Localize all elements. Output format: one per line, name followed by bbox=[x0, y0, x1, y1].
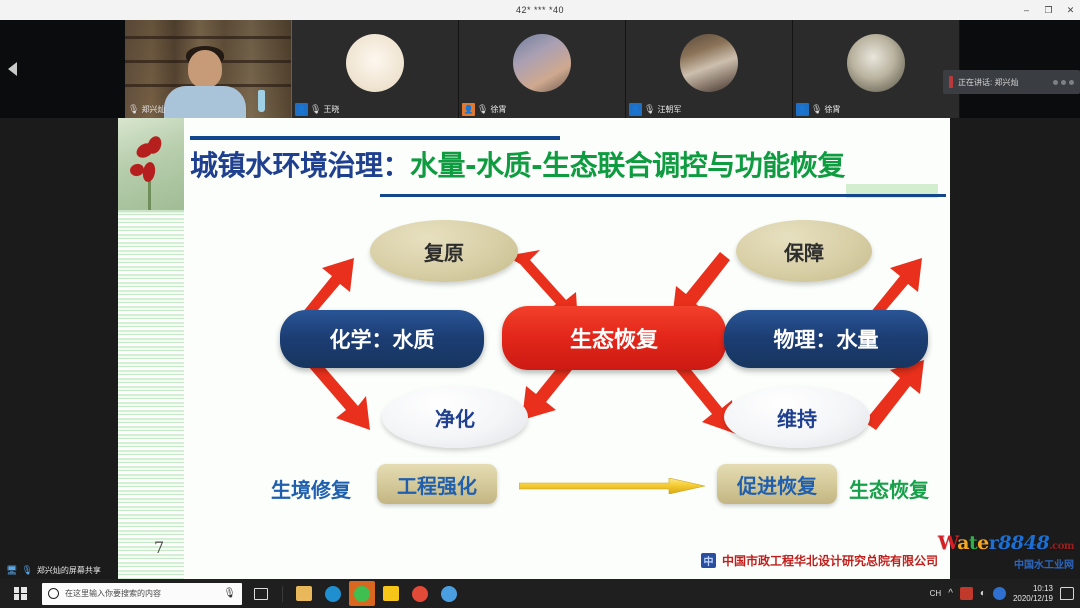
participant-filmstrip: 🎙 郑兴灿 👤 🎙 王晓 👤 🎙 徐霄 bbox=[0, 20, 1080, 118]
window-title-bar: 42* *** *40 – ❐ ✕ bbox=[0, 0, 1080, 20]
window-title: 42* *** *40 bbox=[516, 5, 564, 15]
microphone-icon: 🎙 bbox=[477, 104, 488, 115]
participant-name-text: 徐霄 bbox=[824, 104, 840, 115]
slide-footer-org: 中 中国市政工程华北设计研究总院有限公司 bbox=[701, 552, 938, 569]
user-badge-icon: 👤 bbox=[462, 103, 475, 116]
windows-taskbar: 在这里输入你要搜索的内容 🎙 bbox=[0, 579, 1080, 608]
title-rule-top bbox=[190, 136, 560, 140]
org-name-text: 中国市政工程华北设计研究总院有限公司 bbox=[722, 552, 938, 569]
avatar bbox=[847, 34, 905, 92]
participant-tile-active[interactable]: 🎙 郑兴灿 bbox=[125, 20, 292, 118]
node-fuyuan[interactable]: 复原 bbox=[370, 220, 518, 282]
search-placeholder-text: 在这里输入你要搜索的内容 bbox=[65, 588, 161, 599]
yellow-progress-arrow-icon bbox=[519, 478, 705, 494]
system-tray: CH ^ ◐ 10:13 2020/12/19 bbox=[930, 584, 1080, 602]
taskbar-clock[interactable]: 10:13 2020/12/19 bbox=[1013, 584, 1053, 602]
taskbar-app-buttons bbox=[248, 581, 462, 606]
active-speaker-panel[interactable]: 正在讲话: 郑兴灿 bbox=[943, 70, 1080, 94]
ime-indicator[interactable]: CH bbox=[930, 589, 942, 598]
person-body bbox=[164, 86, 246, 118]
node-weichi[interactable]: 维持 bbox=[724, 386, 870, 448]
volume-icon[interactable] bbox=[993, 587, 1006, 600]
wechat-icon bbox=[354, 586, 370, 602]
microphone-icon: 🎙 bbox=[644, 104, 655, 115]
user-badge-icon: 👤 bbox=[295, 103, 308, 116]
avatar bbox=[346, 34, 404, 92]
watermark-number: 8848 bbox=[998, 532, 1049, 554]
minimize-button[interactable]: – bbox=[1021, 6, 1032, 15]
participant-name-text: 汪朝军 bbox=[657, 104, 681, 115]
tray-app-icon[interactable] bbox=[960, 587, 973, 600]
close-button[interactable]: ✕ bbox=[1065, 6, 1076, 15]
watermark-a: a bbox=[957, 532, 969, 554]
node-huaxue-shuizhi[interactable]: 化学：水质 bbox=[280, 310, 484, 368]
participant-tile[interactable]: 👤 🎙 汪朝军 bbox=[626, 20, 793, 118]
microphone-icon: 🎙 bbox=[310, 104, 321, 115]
taskbar-app-meeting[interactable] bbox=[436, 581, 462, 606]
user-badge-icon: 👤 bbox=[796, 103, 809, 116]
node-shengtai-huifu[interactable]: 生态恢复 bbox=[502, 306, 726, 370]
bottle-decor bbox=[258, 90, 265, 112]
participant-name-label: 🎙 郑兴灿 bbox=[128, 102, 165, 116]
participant-name-label: 👤 🎙 汪朝军 bbox=[629, 102, 681, 116]
node-wuli-shuiliang[interactable]: 物理：水量 bbox=[724, 310, 928, 368]
participant-tile[interactable]: 👤 🎙 徐霄 bbox=[459, 20, 626, 118]
avatar bbox=[680, 34, 738, 92]
slide-title-secondary: 水量-水质-生态联合调控与功能恢复 bbox=[410, 149, 845, 182]
participant-name-text: 徐霄 bbox=[490, 104, 506, 115]
title-rule-bottom bbox=[380, 194, 946, 197]
node-jinghua[interactable]: 净化 bbox=[382, 386, 528, 448]
user-badge-icon: 👤 bbox=[629, 103, 642, 116]
node-baozhang[interactable]: 保障 bbox=[736, 220, 872, 282]
task-view-icon bbox=[254, 588, 268, 600]
speaking-level-icon bbox=[949, 76, 953, 88]
participant-name-text: 王晓 bbox=[323, 104, 339, 115]
watermark-domain: .com bbox=[1049, 541, 1074, 552]
watermark-r: r bbox=[989, 532, 999, 554]
taskbar-app-chrome[interactable] bbox=[407, 581, 433, 606]
taskbar-search-box[interactable]: 在这里输入你要搜索的内容 🎙 bbox=[42, 583, 242, 605]
monitor-icon: 🖥 bbox=[6, 565, 17, 576]
participant-tiles: 🎙 郑兴灿 👤 🎙 王晓 👤 🎙 徐霄 bbox=[125, 20, 960, 118]
microphone-icon: 🎙 bbox=[811, 104, 822, 115]
participant-name-label: 👤 🎙 徐霄 bbox=[796, 102, 840, 116]
edge-browser-icon bbox=[325, 586, 341, 602]
chrome-browser-icon bbox=[412, 586, 428, 602]
clock-date: 2020/12/19 bbox=[1013, 594, 1053, 603]
watermark-subtitle: 中国水工业网 bbox=[1014, 556, 1074, 571]
diagram-bottom-row: 生境修复 工程强化 促进恢复 生 bbox=[184, 456, 950, 514]
screen-share-text: 郑兴灿的屏幕共享 bbox=[37, 565, 101, 576]
presentation-slide: 城镇水环境治理：水量-水质-生态联合调控与功能恢复 bbox=[118, 118, 950, 579]
chip-cujin-huifu[interactable]: 促进恢复 bbox=[717, 464, 837, 504]
search-icon bbox=[48, 588, 59, 599]
clock-time: 10:13 bbox=[1033, 584, 1053, 593]
watermark-w: W bbox=[938, 532, 957, 554]
slide-title-primary: 城镇水环境治理： bbox=[190, 149, 410, 182]
notification-center-icon[interactable] bbox=[1060, 587, 1074, 600]
label-shengjing-xiufu: 生境修复 bbox=[271, 474, 351, 503]
flower-decoration-image bbox=[118, 118, 184, 213]
watermark-t: t bbox=[969, 532, 977, 554]
avatar bbox=[513, 34, 571, 92]
microphone-icon: 🎙 bbox=[21, 565, 32, 576]
network-icon[interactable]: ◐ bbox=[980, 588, 986, 599]
taskbar-app-notes[interactable] bbox=[378, 581, 404, 606]
green-stripe-sidebar bbox=[118, 210, 184, 579]
cortana-mic-icon[interactable]: 🎙 bbox=[223, 588, 236, 599]
participant-tile[interactable]: 👤 🎙 王晓 bbox=[292, 20, 459, 118]
watermark-e: e bbox=[977, 532, 989, 554]
taskbar-app-wechat[interactable] bbox=[349, 581, 375, 606]
maximize-button[interactable]: ❐ bbox=[1043, 6, 1054, 15]
slide-page-number: 7 bbox=[154, 538, 164, 557]
participant-tile[interactable]: 👤 🎙 徐霄 bbox=[793, 20, 960, 118]
cycle-diagram: 复原 保障 化学：水质 生态恢复 物理：水量 净化 维持 bbox=[184, 214, 950, 579]
participant-name-text: 郑兴灿 bbox=[141, 104, 165, 115]
taskbar-app-file-explorer[interactable] bbox=[291, 581, 317, 606]
tray-chevron-up-icon[interactable]: ^ bbox=[948, 588, 953, 599]
org-logo-icon: 中 bbox=[701, 553, 716, 568]
active-speaker-text: 正在讲话: 郑兴灿 bbox=[958, 77, 1018, 88]
microphone-icon: 🎙 bbox=[128, 104, 139, 115]
participant-name-label: 👤 🎙 徐霄 bbox=[462, 102, 506, 116]
site-watermark: Water8848.com bbox=[938, 534, 1074, 553]
participant-name-label: 👤 🎙 王晓 bbox=[295, 102, 339, 116]
screen-root: 42* *** *40 – ❐ ✕ 🎙 bbox=[0, 0, 1080, 608]
meeting-app-icon bbox=[441, 586, 457, 602]
start-button[interactable] bbox=[0, 579, 40, 608]
windows-logo-icon bbox=[14, 587, 27, 600]
taskbar-divider bbox=[282, 586, 283, 602]
chip-gongcheng-qianghua[interactable]: 工程强化 bbox=[377, 464, 497, 504]
person-head bbox=[188, 50, 222, 88]
more-options-icon[interactable] bbox=[1053, 80, 1074, 85]
label-shengtai-huifu: 生态恢复 bbox=[849, 474, 929, 503]
taskbar-app-edge-browser[interactable] bbox=[320, 581, 346, 606]
shared-screen-region: 城镇水环境治理：水量-水质-生态联合调控与功能恢复 bbox=[0, 118, 1080, 579]
slide-title: 城镇水环境治理：水量-水质-生态联合调控与功能恢复 bbox=[190, 148, 845, 183]
screen-share-indicator: 🖥 🎙 郑兴灿的屏幕共享 bbox=[0, 561, 107, 579]
task-view-button[interactable] bbox=[248, 581, 274, 606]
filmstrip-prev-arrow-icon[interactable] bbox=[8, 62, 17, 76]
window-controls: – ❐ ✕ bbox=[1021, 0, 1076, 20]
notes-icon bbox=[383, 586, 399, 601]
file-explorer-icon bbox=[296, 586, 312, 601]
